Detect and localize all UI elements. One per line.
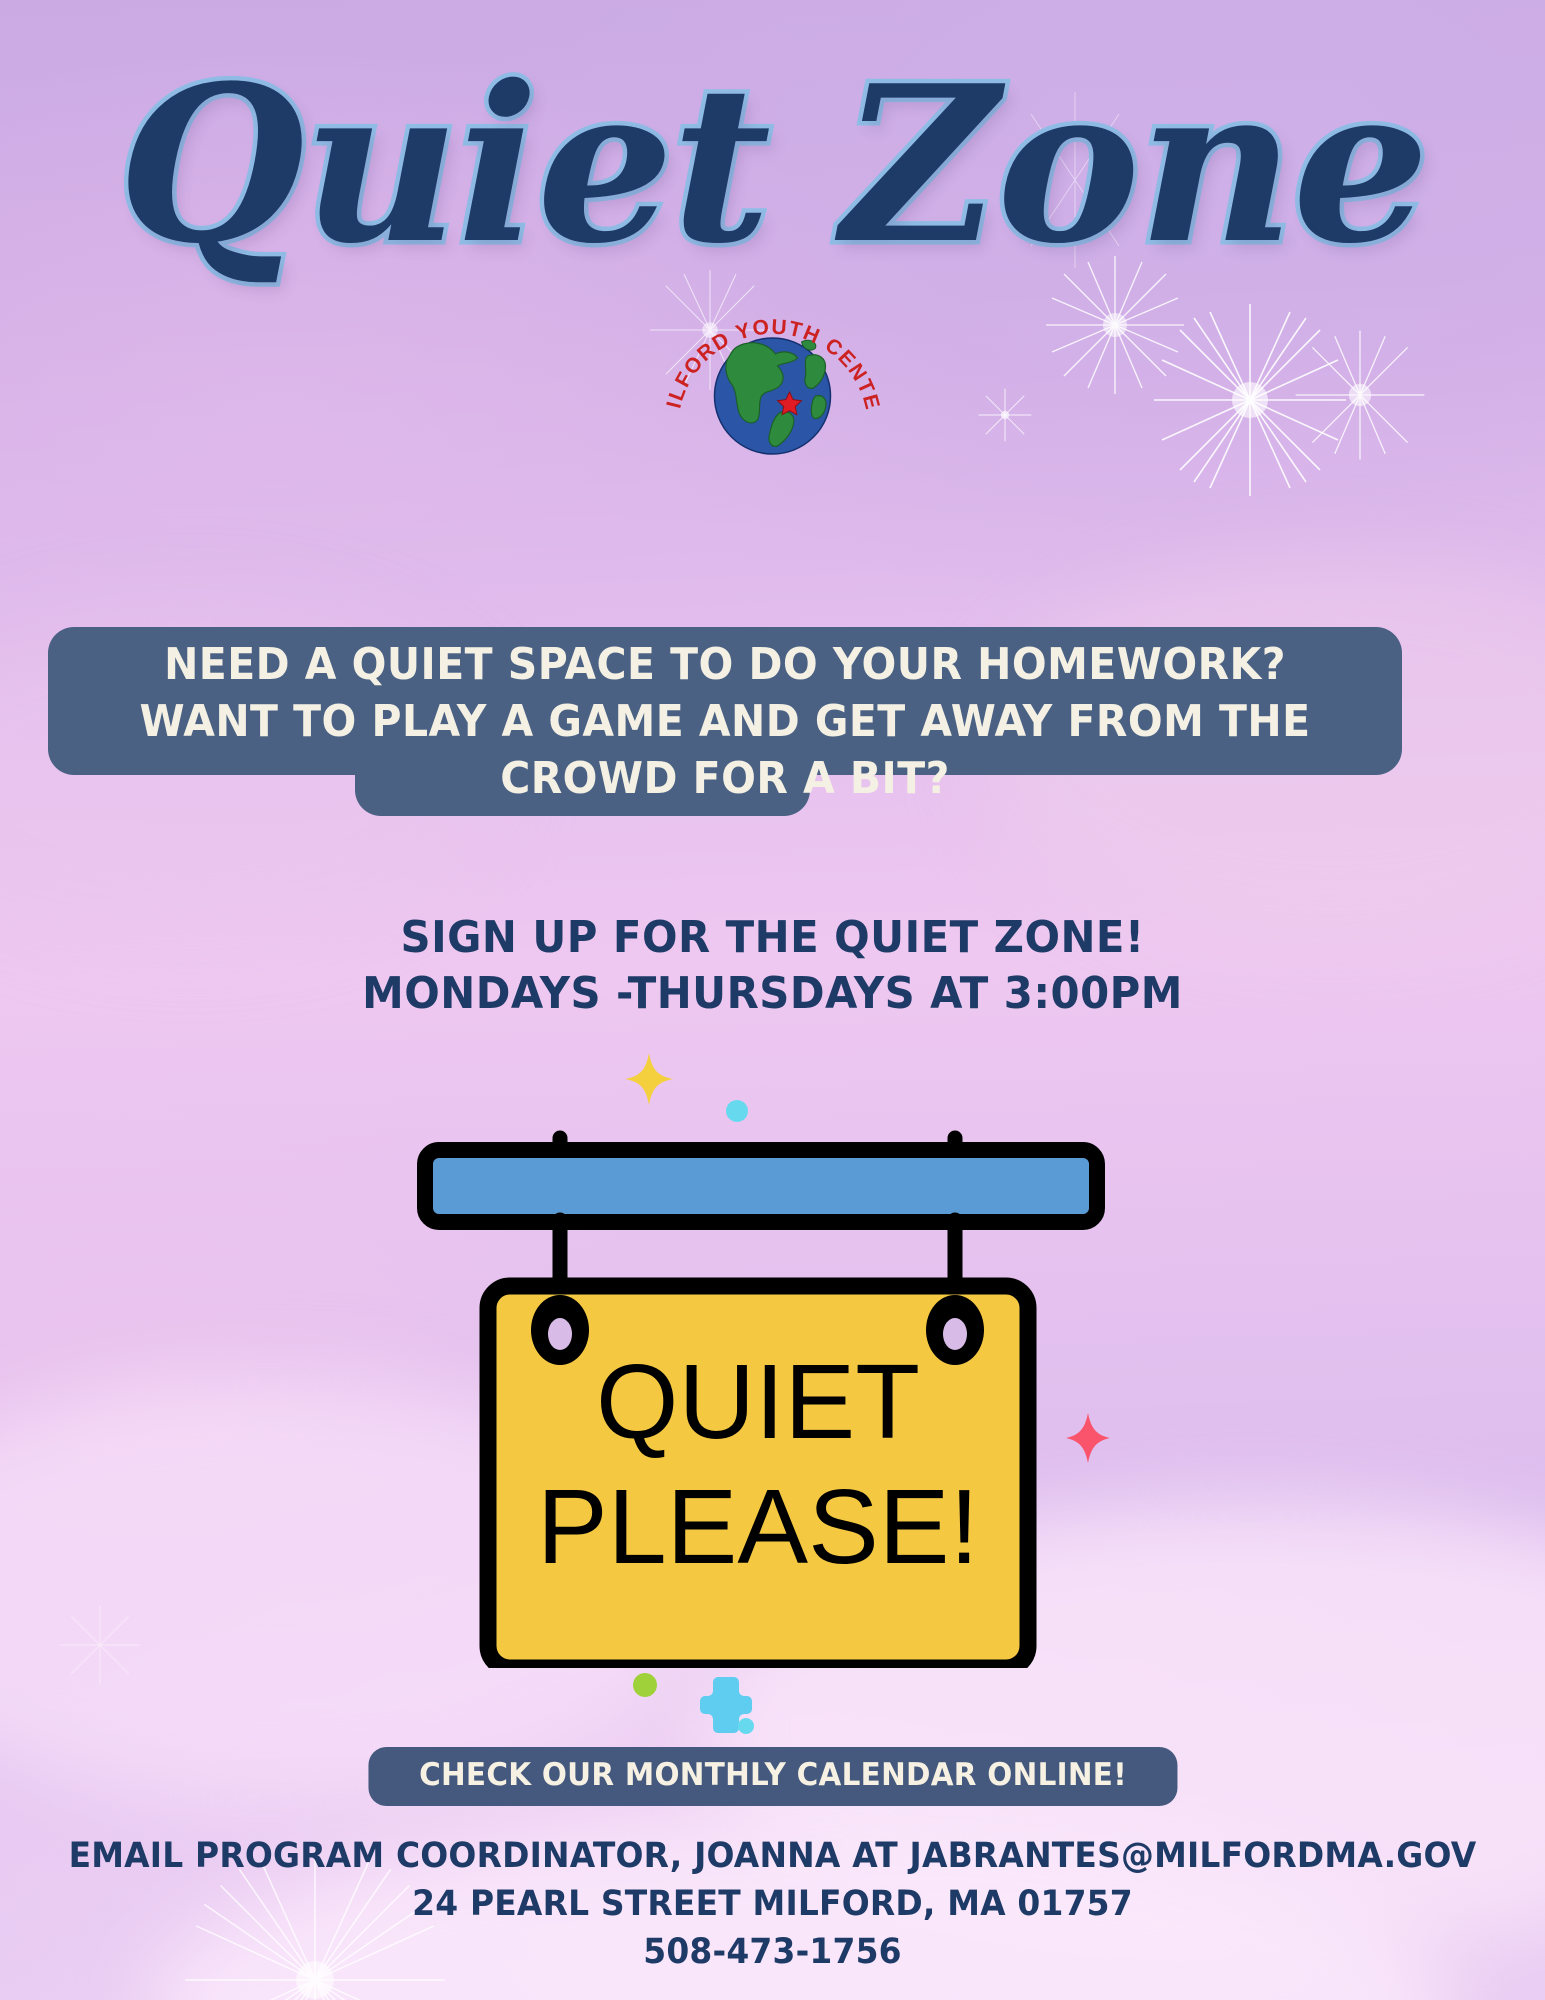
headline-line-2: WANT TO PLAY A GAME AND GET AWAY FROM TH… bbox=[95, 693, 1354, 750]
headline-line-3: CROWD FOR A BIT? bbox=[95, 750, 1354, 807]
quiet-please-sign-illustration: QUIET PLEASE! bbox=[400, 1108, 1120, 1668]
contact-info: EMAIL PROGRAM COORDINATOR, JOANNA AT JAB… bbox=[46, 1832, 1498, 1976]
yellow-sparkle-icon bbox=[625, 1053, 673, 1110]
page-title: Quiet Zone bbox=[0, 62, 1545, 268]
contact-address-line: 24 PEARL STREET MILFORD, MA 01757 bbox=[46, 1880, 1498, 1928]
starburst-sparkle-icon bbox=[55, 1600, 145, 1690]
signup-info: SIGN UP FOR THE QUIET ZONE! MONDAYS -THU… bbox=[39, 910, 1507, 1022]
headline-banner-text: NEED A QUIET SPACE TO DO YOUR HOMEWORK? … bbox=[95, 636, 1354, 807]
headline-line-1: NEED A QUIET SPACE TO DO YOUR HOMEWORK? bbox=[95, 636, 1354, 693]
sign-rail bbox=[425, 1150, 1097, 1222]
cyan-cross-icon bbox=[700, 1677, 752, 1738]
contact-phone-line[interactable]: 508-473-1756 bbox=[46, 1928, 1498, 1976]
green-dot-icon bbox=[633, 1673, 657, 1702]
contact-email-line[interactable]: EMAIL PROGRAM COORDINATOR, JOANNA AT JAB… bbox=[46, 1832, 1498, 1880]
starburst-sparkle-icon bbox=[975, 385, 1035, 445]
monthly-calendar-banner[interactable]: CHECK OUR MONTHLY CALENDAR ONLINE! bbox=[368, 1747, 1177, 1806]
signup-line-1: SIGN UP FOR THE QUIET ZONE! bbox=[39, 910, 1507, 966]
signup-line-2: MONDAYS -THURSDAYS AT 3:00PM bbox=[39, 966, 1507, 1022]
sign-text-line-2: PLEASE! bbox=[537, 1468, 979, 1586]
page-title-text: Quiet Zone bbox=[0, 62, 1545, 268]
cyan-dot-icon bbox=[738, 1718, 754, 1739]
milford-youth-center-logo: MILFORD YOUTH CENTER bbox=[665, 300, 880, 460]
quiet-zone-flyer: Quiet Zone MILFORD YOUTH CENTER NEED A bbox=[0, 0, 1545, 2000]
sign-text-line-1: QUIET bbox=[596, 1343, 920, 1461]
starburst-sparkle-icon bbox=[1290, 325, 1430, 465]
monthly-calendar-label: CHECK OUR MONTHLY CALENDAR ONLINE! bbox=[419, 1760, 1127, 1791]
starburst-sparkle-icon bbox=[1150, 300, 1350, 500]
